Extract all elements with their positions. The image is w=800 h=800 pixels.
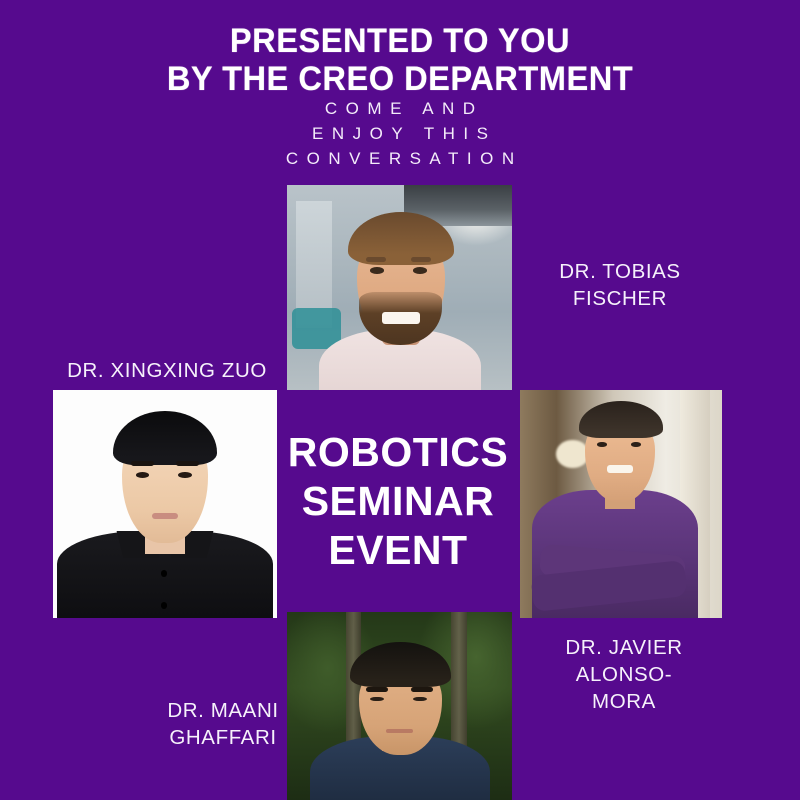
poster-title-line-2: BY THE CREO DEPARTMENT <box>16 62 784 96</box>
poster-canvas: PRESENTED TO YOU BY THE CREO DEPARTMENT … <box>0 0 800 800</box>
event-title: ROBOTICS SEMINAR EVENT <box>282 428 514 575</box>
subtitle-block: COME AND ENJOY THIS CONVERSATION <box>0 96 800 171</box>
event-title-line-3: EVENT <box>282 526 514 575</box>
speaker-name-javier-alonso-mora: DR. JAVIER ALONSO- MORA <box>518 634 730 715</box>
poster-subtitle-line-1: COME AND <box>0 96 800 121</box>
portrait-maani-ghaffari-icon <box>287 612 512 800</box>
speaker-photo-xingxing-zuo <box>53 390 277 618</box>
poster-subtitle-line-2: ENJOY THIS <box>0 121 800 146</box>
header-block: PRESENTED TO YOU BY THE CREO DEPARTMENT <box>0 24 800 96</box>
speaker-photo-maani-ghaffari <box>287 612 512 800</box>
event-title-line-1: ROBOTICS <box>282 428 514 477</box>
portrait-tobias-fischer-icon <box>287 185 512 390</box>
portrait-xingxing-zuo-icon <box>53 390 277 618</box>
poster-title-line-1: PRESENTED TO YOU <box>16 24 784 58</box>
speaker-name-tobias-fischer: DR. TOBIAS FISCHER <box>520 258 720 312</box>
speaker-photo-javier-alonso-mora <box>520 390 722 618</box>
speaker-photo-tobias-fischer <box>287 185 512 390</box>
speaker-name-xingxing-zuo: DR. XINGXING ZUO <box>52 357 282 384</box>
speaker-name-maani-ghaffari: DR. MAANI GHAFFARI <box>128 697 318 751</box>
event-title-line-2: SEMINAR <box>282 477 514 526</box>
portrait-javier-alonso-mora-icon <box>520 390 722 618</box>
poster-subtitle-line-3: CONVERSATION <box>0 146 800 171</box>
